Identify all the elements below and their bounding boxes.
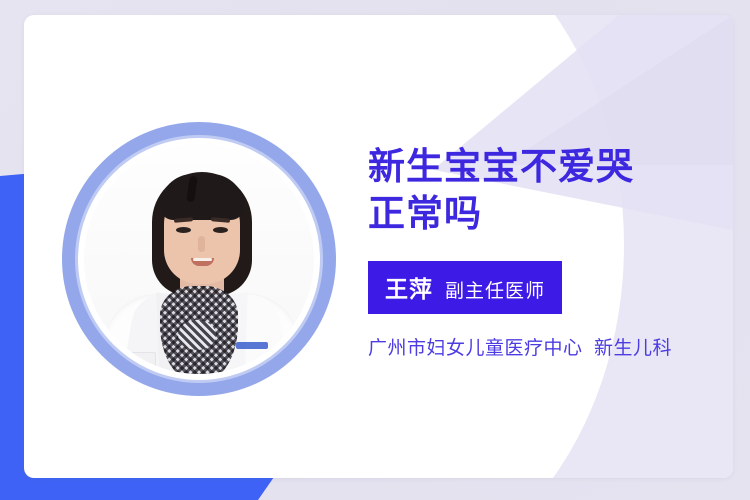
text-content-block: 新生宝宝不爱哭 正常吗 王萍 副主任医师 广州市妇女儿童医疗中心 新生儿科: [368, 143, 733, 360]
hospital-affiliation: 广州市妇女儿童医疗中心 新生儿科: [368, 333, 733, 360]
doctor-credential-badge: 王萍 副主任医师: [368, 261, 562, 314]
content-card: 新生宝宝不爱哭 正常吗 王萍 副主任医师 广州市妇女儿童医疗中心 新生儿科: [24, 15, 733, 478]
bottom-blue-band: [0, 477, 300, 500]
page-title: 新生宝宝不爱哭 正常吗: [368, 143, 733, 237]
doctor-photo: [62, 122, 336, 396]
doctor-name: 王萍: [385, 270, 433, 304]
cover-canvas: 新生宝宝不爱哭 正常吗 王萍 副主任医师 广州市妇女儿童医疗中心 新生儿科: [0, 0, 750, 500]
photo-outer-ring: [62, 122, 336, 396]
doctor-title: 副主任医师: [445, 276, 545, 303]
